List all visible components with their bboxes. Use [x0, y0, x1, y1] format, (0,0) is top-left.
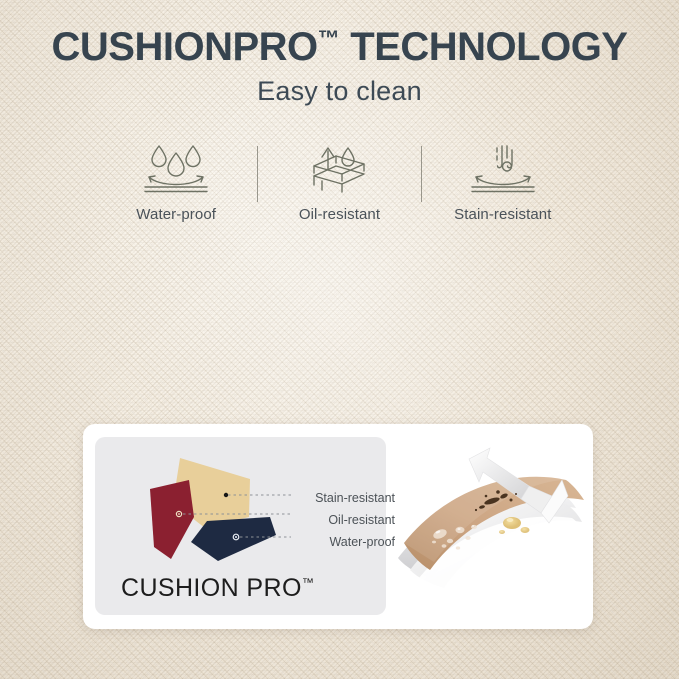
- cushion-illustration: [386, 430, 593, 620]
- feature-list: Water-proof Oil-resistant: [95, 140, 584, 223]
- stain-repel-icon: [464, 140, 542, 198]
- header: CUSHIONPRO™ TECHNOLOGY Easy to clean: [0, 26, 679, 107]
- feature-label: Oil-resistant: [299, 206, 380, 223]
- callout-labels: Stain-resistant Oil-resistant Water-proo…: [291, 487, 395, 553]
- polygon-oil-resistant: [150, 480, 194, 559]
- feature-divider-1: [257, 146, 258, 202]
- diagram-panel: Stain-resistant Oil-resistant Water-proo…: [95, 437, 386, 615]
- page-title-rest: TECHNOLOGY: [340, 25, 628, 69]
- callout-label-oil-resistant: Oil-resistant: [291, 509, 395, 531]
- water-drops-repel-icon: [137, 140, 215, 198]
- promo-banner: CUSHIONPRO™ TECHNOLOGY Easy to clean Wat…: [0, 0, 679, 679]
- cushion-pro-logo: CUSHION PRO™: [121, 574, 314, 603]
- cushion-pro-card: Stain-resistant Oil-resistant Water-proo…: [83, 424, 593, 629]
- layered-sheets-oil-icon: [300, 140, 378, 198]
- feature-divider-2: [421, 146, 422, 202]
- curved-cushion-with-droplets: [386, 430, 593, 620]
- callout-label-stain-resistant: Stain-resistant: [291, 487, 395, 509]
- callout-label-water-proof: Water-proof: [291, 531, 395, 553]
- feature-item-stain-resistant: Stain-resistant: [422, 140, 584, 223]
- cushion-pro-logo-text: CUSHION PRO: [121, 574, 302, 602]
- trademark-symbol: ™: [318, 26, 340, 51]
- feature-label: Water-proof: [136, 206, 216, 223]
- trademark-symbol: ™: [302, 576, 314, 590]
- feature-item-water-proof: Water-proof: [95, 140, 257, 223]
- page-subtitle: Easy to clean: [0, 76, 679, 107]
- feature-label: Stain-resistant: [454, 206, 551, 223]
- feature-item-oil-resistant: Oil-resistant: [258, 140, 420, 223]
- page-title-main: CUSHIONPRO: [52, 25, 318, 69]
- page-title: CUSHIONPRO™ TECHNOLOGY: [0, 26, 679, 68]
- dot-stain-resistant: [224, 493, 228, 497]
